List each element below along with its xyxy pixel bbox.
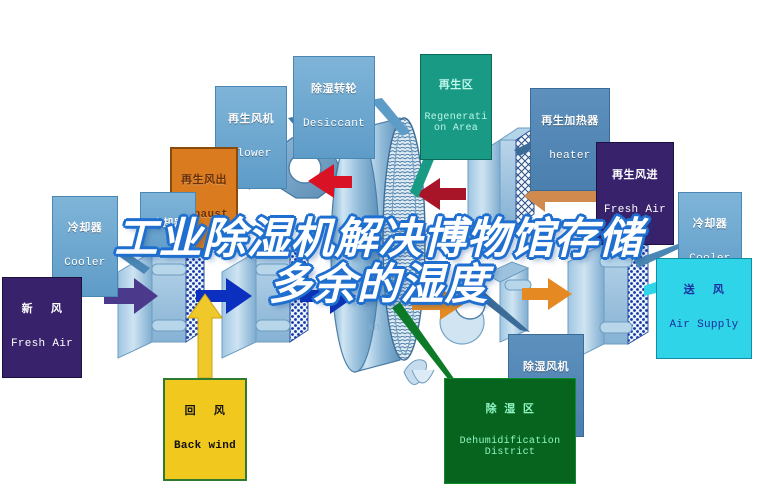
title-line-1: 工业除湿机解决博物馆存储 <box>0 216 757 262</box>
label-exhaust-cn: 再生风出 <box>174 175 234 187</box>
label-dehumid-district-en: Dehumidification District <box>447 437 573 459</box>
diagram-canvas: xn <box>0 0 757 488</box>
label-regen-area[interactable]: 再生区 Regenerati on Area <box>420 54 492 160</box>
svg-text:xn: xn <box>368 321 380 333</box>
label-fresh-air-in-en: Fresh Air <box>5 339 79 351</box>
label-process-blower-cn: 除湿风机 <box>511 362 581 374</box>
title-line-2: 多余的湿度 <box>0 262 757 308</box>
label-regen-heater-cn: 再生加热器 <box>533 116 607 128</box>
label-dehumid-district[interactable]: 除 湿 区 Dehumidification District <box>444 378 576 484</box>
label-regen-area-en: Regenerati on Area <box>423 113 489 135</box>
label-desiccant-wheel-cn: 除湿转轮 <box>296 84 372 96</box>
label-back-wind-en: Back wind <box>167 441 243 453</box>
label-dehumid-district-cn: 除 湿 区 <box>447 404 573 416</box>
condensate-tray <box>404 360 434 385</box>
label-regen-blower-cn: 再生风机 <box>218 114 284 126</box>
label-regen-area-cn: 再生区 <box>423 80 489 92</box>
label-desiccant-wheel[interactable]: 除湿转轮 Desiccant <box>293 56 375 159</box>
label-back-wind[interactable]: 回 风 Back wind <box>163 378 247 481</box>
title-overlay: 工业除湿机解决博物馆存储 多余的湿度 <box>0 216 757 309</box>
label-back-wind-cn: 回 风 <box>167 406 243 418</box>
label-desiccant-wheel-en: Desiccant <box>296 119 372 131</box>
label-regen-air-in-cn: 再生风进 <box>599 170 671 182</box>
label-air-supply-en: Air Supply <box>659 320 749 332</box>
